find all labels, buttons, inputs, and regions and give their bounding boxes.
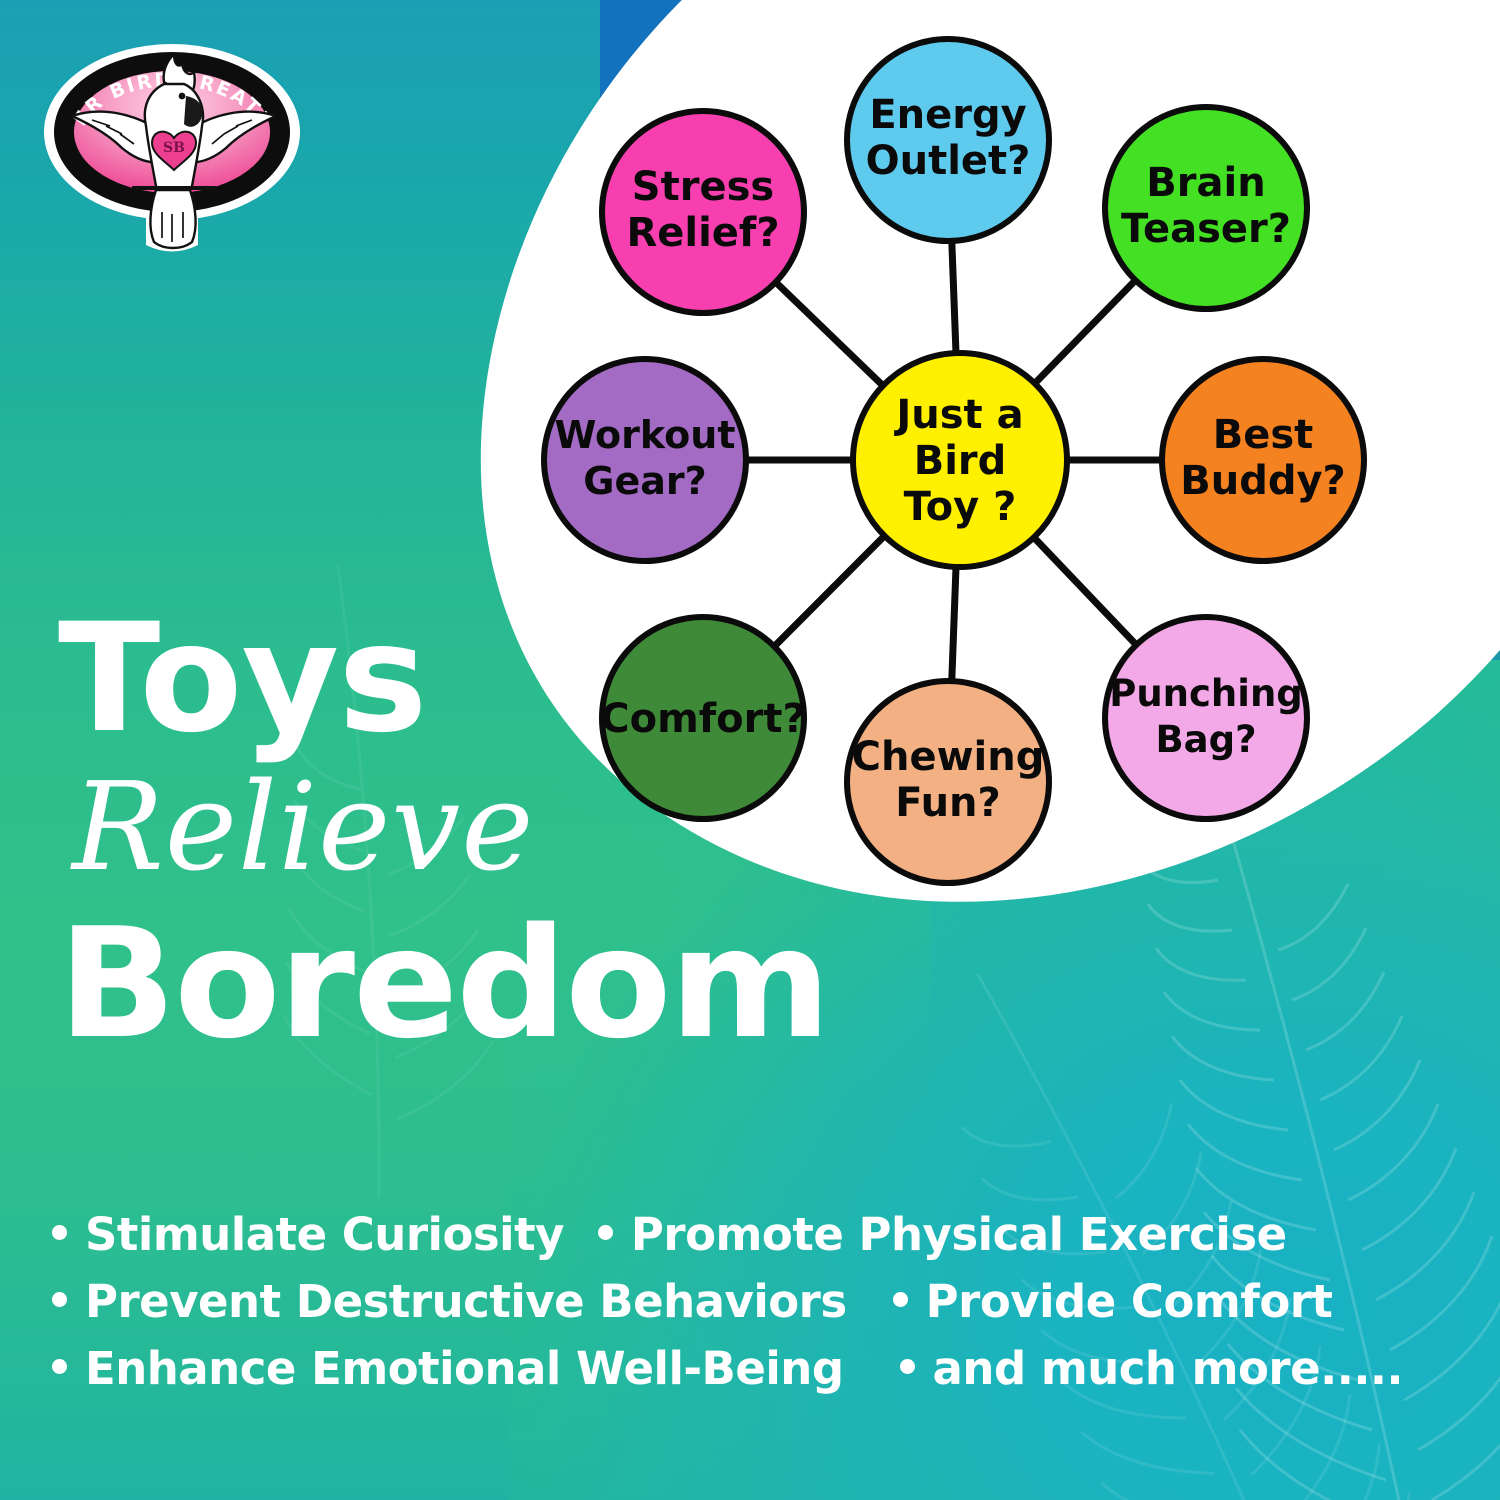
logo-heart-initials: SB	[163, 140, 185, 156]
node-best-buddy[interactable]: Best Buddy?	[1162, 359, 1364, 561]
node-brain-teaser-line2: Teaser?	[1121, 206, 1291, 252]
node-energy-outlet-line1: Energy	[869, 92, 1026, 138]
node-brain-teaser[interactable]: Brain Teaser?	[1105, 107, 1307, 309]
benefit-label: Prevent Destructive Behaviors	[85, 1275, 847, 1328]
node-punching-bag[interactable]: Punching Bag?	[1105, 617, 1307, 819]
benefit-label: Promote Physical Exercise	[631, 1208, 1287, 1261]
node-brain-teaser-line1: Brain	[1146, 160, 1265, 206]
bullet-dot-icon	[52, 1225, 67, 1240]
node-workout-gear[interactable]: Workout Gear?	[544, 359, 746, 561]
node-workout-gear-line2: Gear?	[583, 459, 706, 503]
node-stress-relief-line2: Relief?	[626, 210, 779, 256]
super-bird-creations-logo-icon: SUPER BIRD CREATIONS	[36, 40, 308, 255]
node-center-line1: Just a	[893, 392, 1023, 438]
benefit-label: Provide Comfort	[926, 1275, 1333, 1328]
node-center-line3: Toy ?	[904, 484, 1017, 530]
node-energy-outlet[interactable]: Energy Outlet?	[847, 39, 1049, 241]
headline-line-boredom: Boredom	[58, 912, 894, 1056]
node-stress-relief[interactable]: Stress Relief?	[602, 111, 804, 313]
node-chewing-fun-line1: Chewing	[852, 734, 1045, 780]
benefit-stimulate-curiosity: Stimulate Curiosity	[52, 1208, 564, 1261]
headline-block: Toys Relieve Boredom	[58, 610, 878, 1056]
benefit-enhance-emotional-well-being: Enhance Emotional Well-Being	[52, 1342, 844, 1395]
benefits-row-3: Enhance Emotional Well-Being and much mo…	[52, 1342, 1452, 1395]
benefit-and-much-more: and much more.....	[900, 1342, 1404, 1395]
benefit-label: Enhance Emotional Well-Being	[85, 1342, 844, 1395]
node-punching-bag-line2: Bag?	[1155, 718, 1256, 761]
bullet-dot-icon	[52, 1359, 67, 1374]
node-chewing-fun-line2: Fun?	[895, 780, 1001, 826]
node-workout-gear-line1: Workout	[555, 413, 736, 457]
bullet-dot-icon	[893, 1292, 908, 1307]
benefit-label: and much more.....	[933, 1342, 1404, 1395]
brand-logo[interactable]: SUPER BIRD CREATIONS	[36, 40, 308, 255]
bullet-dot-icon	[598, 1225, 613, 1240]
benefits-row-1: Stimulate Curiosity Promote Physical Exe…	[52, 1208, 1452, 1261]
headline-line-relieve: Relieve	[72, 766, 878, 888]
headline-line-toys: Toys	[58, 610, 878, 748]
node-stress-relief-line1: Stress	[632, 164, 774, 210]
benefits-list: Stimulate Curiosity Promote Physical Exe…	[52, 1208, 1452, 1409]
node-center-just-a-bird-toy[interactable]: Just a Bird Toy ?	[853, 353, 1067, 567]
node-punching-bag-line1: Punching	[1109, 672, 1303, 715]
bullet-dot-icon	[52, 1292, 67, 1307]
benefit-prevent-destructive-behaviors: Prevent Destructive Behaviors	[52, 1275, 847, 1328]
benefit-label: Stimulate Curiosity	[85, 1208, 564, 1261]
benefit-provide-comfort: Provide Comfort	[893, 1275, 1333, 1328]
bullet-dot-icon	[900, 1359, 915, 1374]
node-best-buddy-line1: Best	[1213, 412, 1314, 458]
benefit-promote-physical-exercise: Promote Physical Exercise	[598, 1208, 1287, 1261]
benefits-row-2: Prevent Destructive Behaviors Provide Co…	[52, 1275, 1452, 1328]
poster-canvas: SUPER BIRD CREATIONS	[0, 0, 1500, 1500]
node-energy-outlet-line2: Outlet?	[866, 138, 1031, 184]
node-center-line2: Bird	[914, 438, 1007, 484]
node-best-buddy-line2: Buddy?	[1180, 458, 1346, 504]
